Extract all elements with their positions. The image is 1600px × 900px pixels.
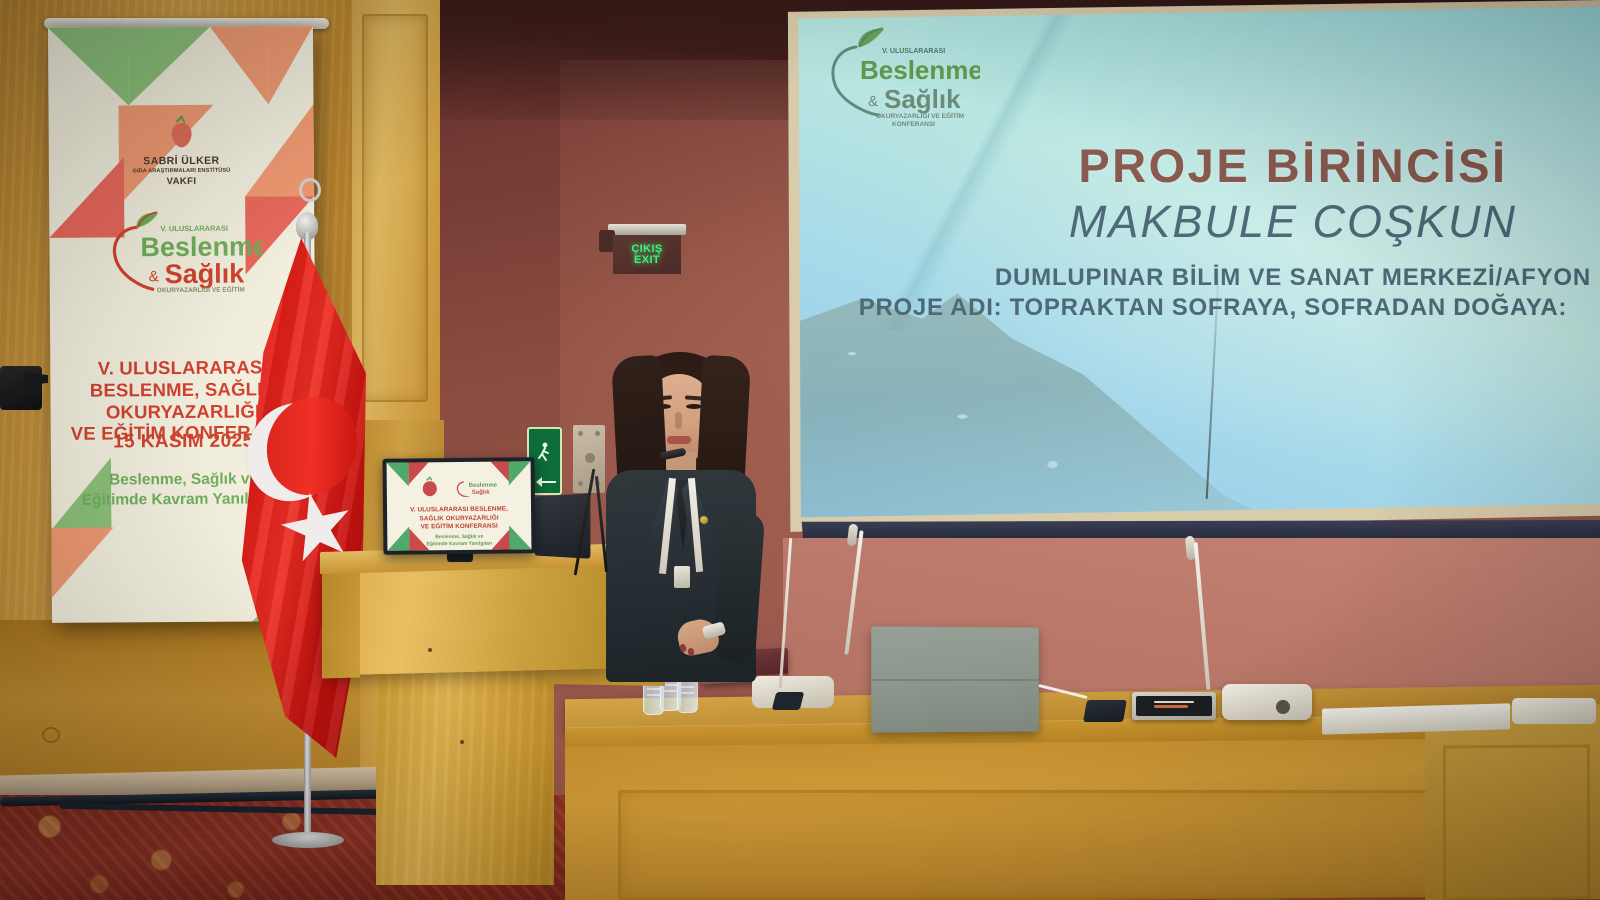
slide-heading: PROJE BİRİNCİSİ <box>937 142 1600 189</box>
paper-stack <box>1322 703 1510 734</box>
apple-icon <box>163 115 199 151</box>
foundation-name-block: SABRİ ÜLKER GIDA ARAŞTIRMALARI ENSTİTÜSÜ… <box>49 154 314 189</box>
podium-sign-title: V. ULUSLARARASI BESLENME, SAĞLIK OKURYAZ… <box>393 505 525 532</box>
slide-presenter-name: MAKBULE COŞKUN <box>937 199 1600 244</box>
slide-logo-word1: Beslenme <box>860 55 980 85</box>
podium-sign-subtitle-line2: Eğitimde Kavram Yanılgıları <box>393 540 525 548</box>
apple-icon-small <box>419 476 441 498</box>
slide-institution: DUMLUPINAR BİLİM VE SANAT MERKEZİ/AFYON <box>937 266 1600 290</box>
podium-sign-subtitle: Beslenme, Sağlık ve Eğitimde Kavram Yanı… <box>393 533 525 548</box>
microphone-base <box>752 676 834 708</box>
panel-table-inset <box>618 790 1488 900</box>
video-camera <box>0 366 42 410</box>
panel-table-right-section <box>1425 704 1600 900</box>
slide-text-block: PROJE BİRİNCİSİ MAKBULE COŞKUN DUMLUPINA… <box>937 142 1600 320</box>
podium-side-face <box>322 560 360 679</box>
exit-sign-hanging: ÇIKIŞ EXIT <box>613 224 681 274</box>
projection-screen: V. ULUSLARARASI Beslenme & Sağlık OKURYA… <box>792 6 1600 530</box>
foundation-name: SABRİ ÜLKER <box>143 155 219 168</box>
svg-text:Beslenme: Beslenme <box>469 483 498 489</box>
slide-logo-word2: Sağlık <box>884 84 961 114</box>
podium-body <box>322 556 610 675</box>
podium-sign: Beslenme Sağlık V. ULUSLARARASI BESLENME… <box>383 457 536 555</box>
flag-stand-base <box>272 832 344 848</box>
slide-logo-tagline2: KONFERANSI <box>892 121 935 128</box>
laptop[interactable] <box>871 626 1039 732</box>
podium-column <box>376 660 554 885</box>
conference-photo: SABRİ ÜLKER GIDA ARAŞTIRMALARI ENSTİTÜSÜ… <box>0 0 1600 900</box>
exit-sign-text-tr: ÇIKIŞ <box>631 244 662 255</box>
audio-receiver[interactable] <box>1132 692 1216 720</box>
flag-pole-ring <box>299 178 321 202</box>
conference-logo-small: Beslenme Sağlık <box>455 477 499 497</box>
power-adapter <box>1083 700 1127 722</box>
lapel-pin-icon <box>700 516 708 524</box>
arrow-left-icon <box>536 477 556 487</box>
logo-word1: Beslenme <box>140 231 262 262</box>
conference-logo-banner: V. ULUSLARARASI Beslenme & Sağlık OKURYA… <box>102 208 263 295</box>
white-device <box>1512 698 1596 724</box>
exit-sign-text-en: EXIT <box>634 255 660 266</box>
running-person-icon <box>537 442 551 464</box>
conference-logo-slide: V. ULUSLARARASI Beslenme & Sağlık OKURYA… <box>820 19 980 129</box>
wood-knob-icon <box>42 727 60 743</box>
name-badge <box>674 566 690 588</box>
podium-sign-title-line3: VE EĞİTİM KONFERANSI <box>393 522 525 532</box>
slide-project-title: PROJE ADI: TOPRAKTAN SOFRAYA, SOFRADAN D… <box>777 296 1600 320</box>
slide-logo-tagline: OKURYAZARLIĞI VE EĞİTİM <box>876 111 964 120</box>
speaker-arm <box>713 511 765 664</box>
logo-amp: & <box>148 268 158 285</box>
svg-text:Sağlık: Sağlık <box>472 490 490 496</box>
speaker-person <box>600 352 760 682</box>
podium-sign-title-line1: V. ULUSLARARASI BESLENME, <box>393 505 525 515</box>
slide-logo-amp: & <box>868 93 878 110</box>
wood-column-upper <box>352 0 440 430</box>
slide-logo-edition: V. ULUSLARARASI <box>882 48 945 55</box>
foundation-type: VAKFI <box>49 175 314 189</box>
microphone-base <box>1222 684 1312 720</box>
logo-word2: Sağlık <box>164 259 245 290</box>
